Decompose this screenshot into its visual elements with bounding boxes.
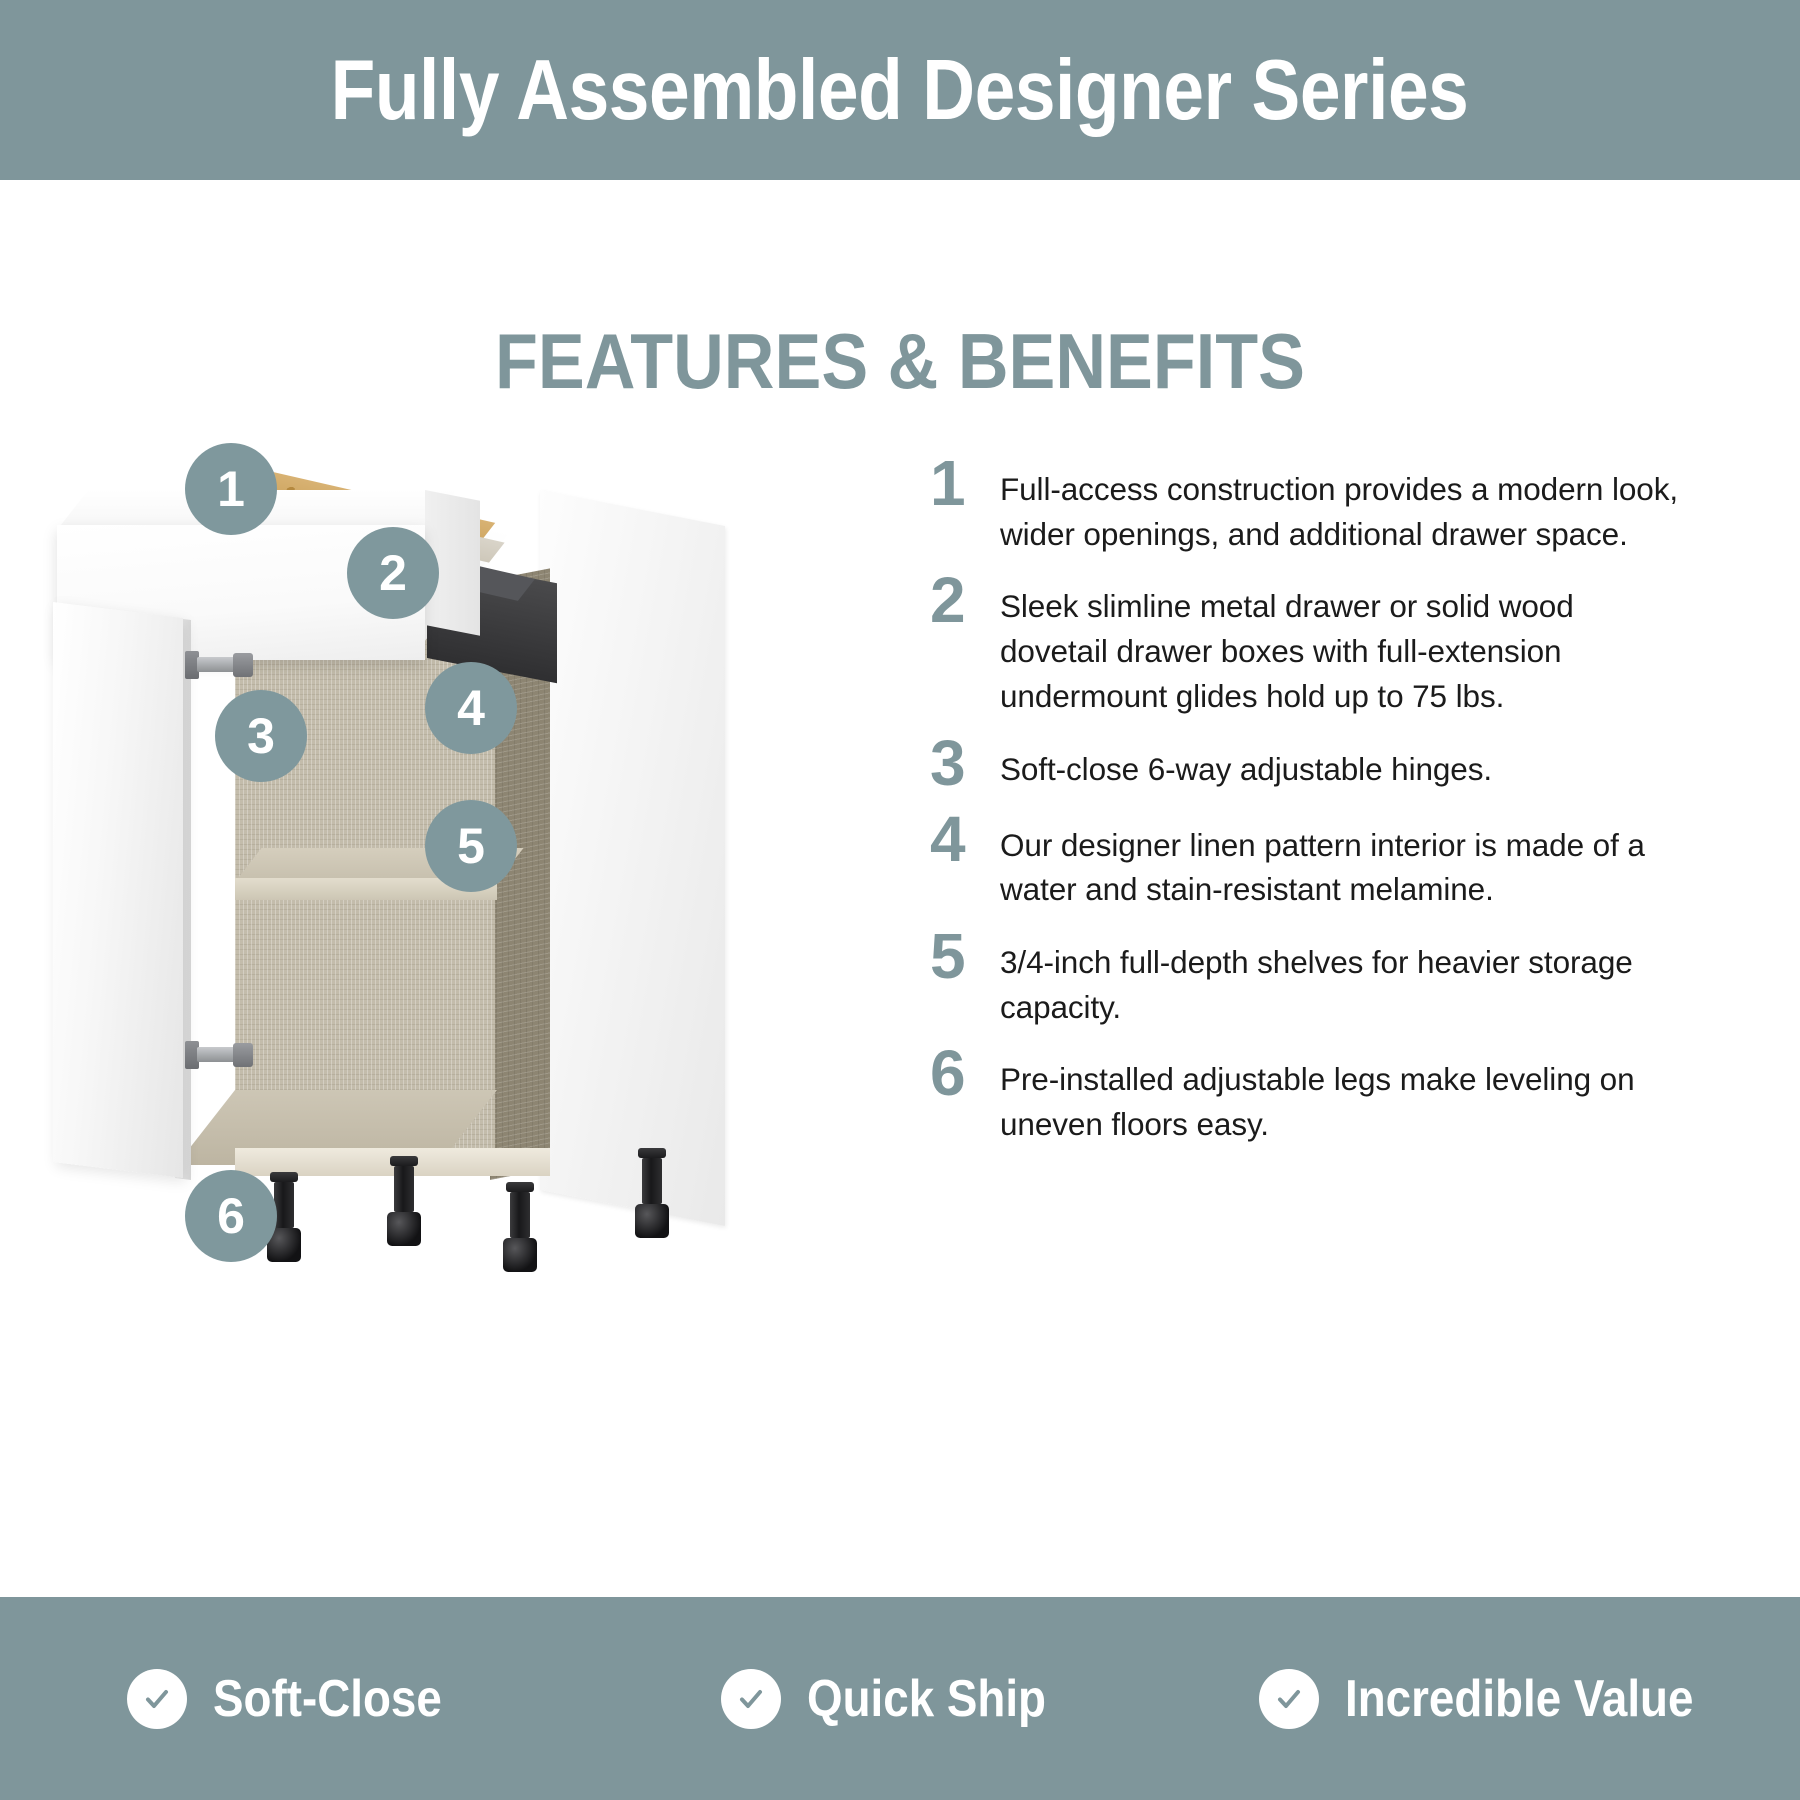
feature-number-2: 2 [930,568,1000,632]
feature-text-5: 3/4-inch full-depth shelves for heavier … [1000,928,1690,1029]
adjustable-leg-rear-left [387,1156,421,1246]
feature-number-3: 3 [930,731,1000,795]
callout-badge-6: 6 [185,1170,277,1262]
cabinet-right-panel [540,490,725,1226]
check-circle-icon [1259,1669,1319,1729]
features-list: 1 Full-access construction provides a mo… [930,455,1690,1163]
header-bar: Fully Assembled Designer Series [0,0,1800,180]
feature-number-4: 4 [930,807,1000,871]
feature-number-1: 1 [930,451,1000,515]
feature-text-2: Sleek slimline metal drawer or solid woo… [1000,572,1690,718]
adjustable-leg-front-right [503,1182,537,1272]
footer-item-soft-close: Soft-Close [0,1669,600,1729]
page-title: Fully Assembled Designer Series [331,48,1469,133]
callout-badge-4: 4 [425,662,517,754]
feature-item-1: 1 Full-access construction provides a mo… [930,455,1690,556]
soft-close-hinge-bottom [185,1035,255,1073]
footer-label-incredible-value: Incredible Value [1345,1673,1693,1725]
product-illustration: 1 2 3 4 5 6 [35,430,795,1310]
feature-text-6: Pre-installed adjustable legs make level… [1000,1045,1690,1146]
feature-item-4: 4 Our designer linen pattern interior is… [930,811,1690,912]
footer-label-quick-ship: Quick Ship [807,1673,1046,1725]
footer-label-soft-close: Soft-Close [213,1673,442,1725]
feature-item-6: 6 Pre-installed adjustable legs make lev… [930,1045,1690,1146]
check-circle-icon [721,1669,781,1729]
footer-item-quick-ship: Quick Ship [600,1669,1200,1729]
feature-item-5: 5 3/4-inch full-depth shelves for heavie… [930,928,1690,1029]
feature-number-6: 6 [930,1041,1000,1105]
adjustable-leg-rear-right [635,1148,669,1238]
callout-badge-5: 5 [425,800,517,892]
check-circle-icon [127,1669,187,1729]
section-title: FEATURES & BENEFITS [90,322,1710,400]
footer-bar: Soft-Close Quick Ship Incredible Value [0,1597,1800,1800]
soft-close-hinge-top [185,645,255,683]
feature-item-3: 3 Soft-close 6-way adjustable hinges. [930,735,1690,795]
cabinet-door [53,602,183,1178]
feature-item-2: 2 Sleek slimline metal drawer or solid w… [930,572,1690,718]
feature-text-3: Soft-close 6-way adjustable hinges. [1000,735,1690,792]
feature-text-1: Full-access construction provides a mode… [1000,455,1690,556]
feature-number-5: 5 [930,924,1000,988]
callout-badge-2: 2 [347,527,439,619]
callout-badge-3: 3 [215,690,307,782]
callout-badge-1: 1 [185,443,277,535]
footer-item-incredible-value: Incredible Value [1200,1669,1800,1729]
feature-text-4: Our designer linen pattern interior is m… [1000,811,1690,912]
